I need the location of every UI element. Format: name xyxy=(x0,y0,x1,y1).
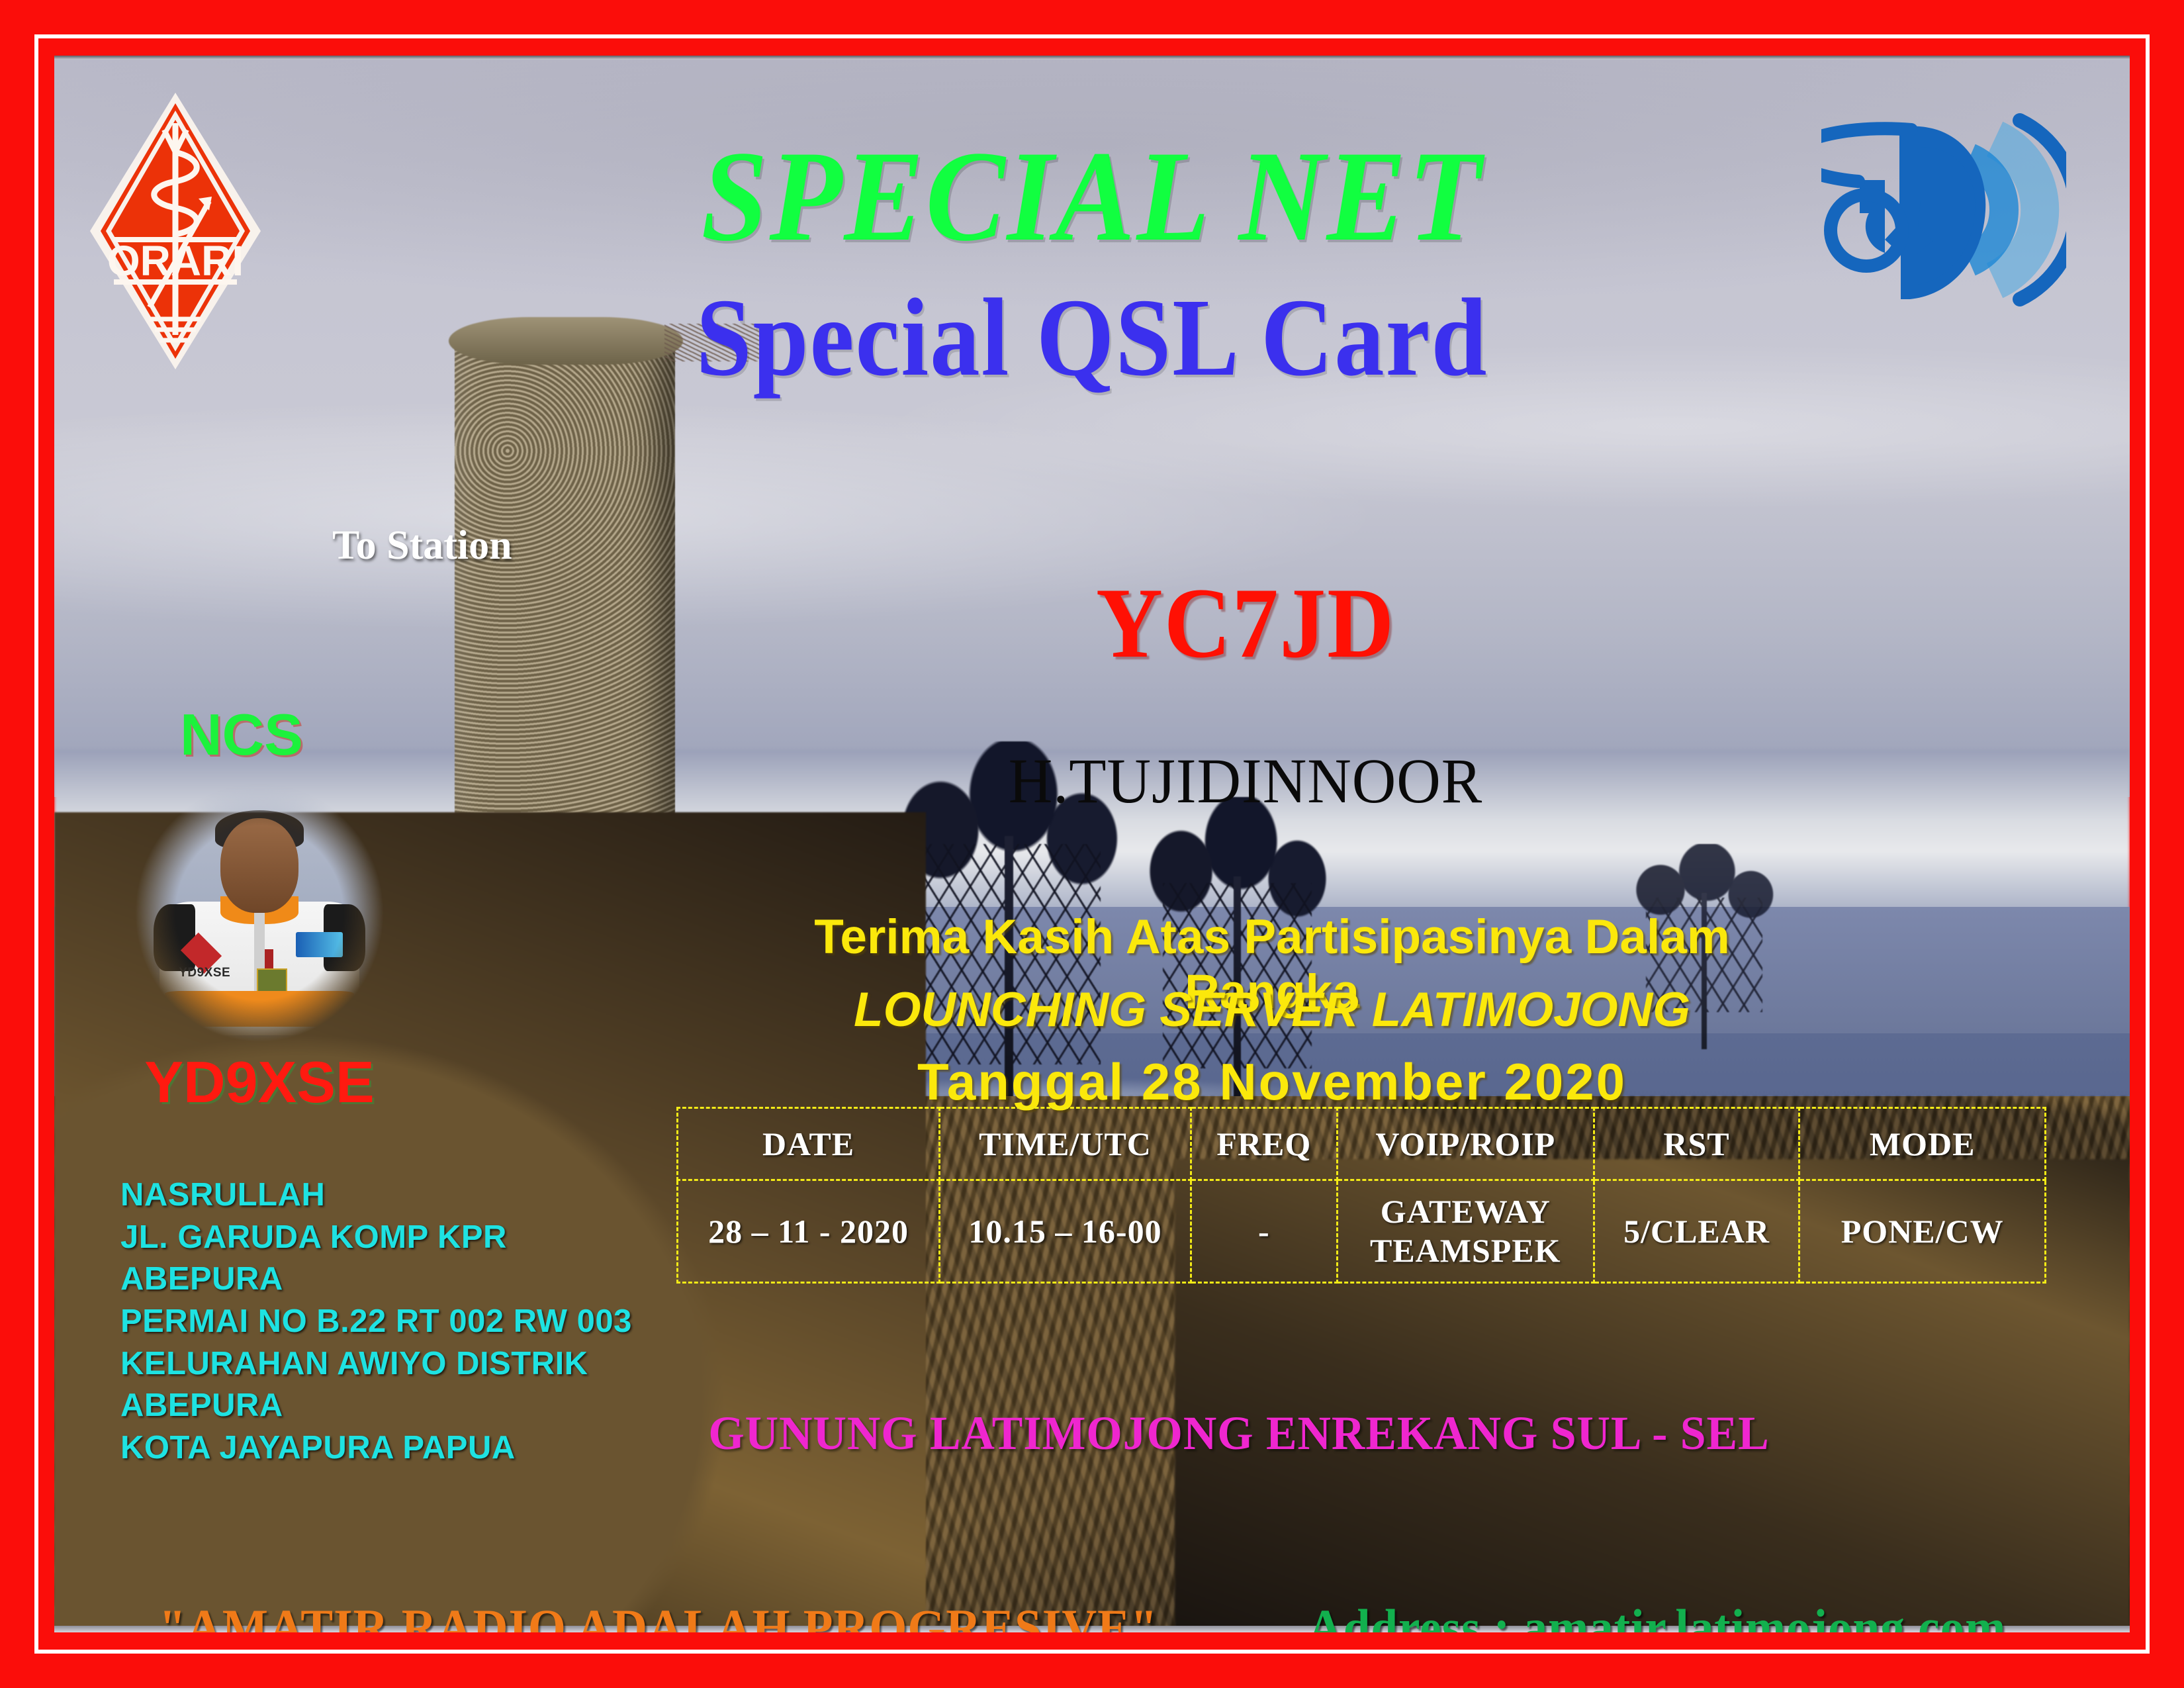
table-header-row: DATE TIME/UTC FREQ VOIP/ROIP RST MODE xyxy=(678,1108,2046,1180)
cell-mode: PONE/CW xyxy=(1799,1180,2046,1283)
cell-freq: - xyxy=(1191,1180,1337,1283)
operator-name: H.TUJIDINNOOR xyxy=(852,744,1639,818)
qsl-card: ORARI SPECIAL NET Special QSL Card To St… xyxy=(0,0,2184,1688)
column-header-freq: FREQ xyxy=(1191,1108,1337,1180)
cell-time: 10.15 – 16-00 xyxy=(940,1180,1191,1283)
portrait-club-logo xyxy=(296,932,343,957)
address-line: ABEPURA xyxy=(120,1385,650,1427)
address-line: JL. GARUDA KOMP KPR xyxy=(120,1217,650,1259)
portrait-callsign-text: YD9XSE xyxy=(179,966,230,980)
event-date: Tanggal 28 November 2020 xyxy=(756,1052,1788,1112)
address-line: NASRULLAH xyxy=(120,1174,650,1217)
column-header-time: TIME/UTC xyxy=(940,1108,1191,1180)
portrait-shoulder-left xyxy=(154,904,195,971)
portrait-face xyxy=(220,818,298,913)
address-line: KOTA JAYAPURA PAPUA xyxy=(120,1427,650,1470)
cell-date: 28 – 11 - 2020 xyxy=(678,1180,940,1283)
content-layer: ORARI SPECIAL NET Special QSL Card To St… xyxy=(54,56,2130,1632)
to-station-label: To Station xyxy=(332,522,512,569)
station-callsign: YC7JD xyxy=(868,565,1623,680)
operator-portrait-photo: YD9XSE xyxy=(120,774,398,1052)
table-row: 28 – 11 - 2020 10.15 – 16-00 - GATEWAY T… xyxy=(678,1180,2046,1283)
qso-log-table: DATE TIME/UTC FREQ VOIP/ROIP RST MODE 28… xyxy=(676,1107,2046,1284)
event-name: LOUNCHING SERVER LATIMOJONG xyxy=(756,982,1788,1037)
ncs-callsign: YD9XSE xyxy=(134,1049,385,1116)
motto-text: "AMATIR RADIO ADALAH PROGRESIVE" xyxy=(159,1598,1158,1632)
cell-voip: GATEWAY TEAMSPEK xyxy=(1337,1180,1594,1283)
location-caption: GUNUNG LATIMOJONG ENREKANG SUL - SEL xyxy=(629,1406,1849,1461)
address-line: PERMAI NO B.22 RT 002 RW 003 xyxy=(120,1301,650,1343)
page-subtitle: Special QSL Card xyxy=(158,274,2026,402)
address-line: KELURAHAN AWIYO DISTRIK xyxy=(120,1343,650,1385)
address-line: ABEPURA xyxy=(120,1258,650,1301)
column-header-mode: MODE xyxy=(1799,1108,2046,1180)
page-title: SPECIAL NET xyxy=(137,122,2046,271)
mailing-address: NASRULLAH JL. GARUDA KOMP KPR ABEPURA PE… xyxy=(120,1174,650,1470)
column-header-rst: RST xyxy=(1594,1108,1799,1180)
web-address-text: Address : amatir.latimojong.com xyxy=(1308,1598,2007,1632)
ncs-label: NCS xyxy=(180,701,303,769)
column-header-voip: VOIP/ROIP xyxy=(1337,1108,1594,1180)
column-header-date: DATE xyxy=(678,1108,940,1180)
background-photograph: ORARI SPECIAL NET Special QSL Card To St… xyxy=(54,56,2130,1632)
cell-rst: 5/CLEAR xyxy=(1594,1180,1799,1283)
portrait-sash xyxy=(165,991,354,1027)
